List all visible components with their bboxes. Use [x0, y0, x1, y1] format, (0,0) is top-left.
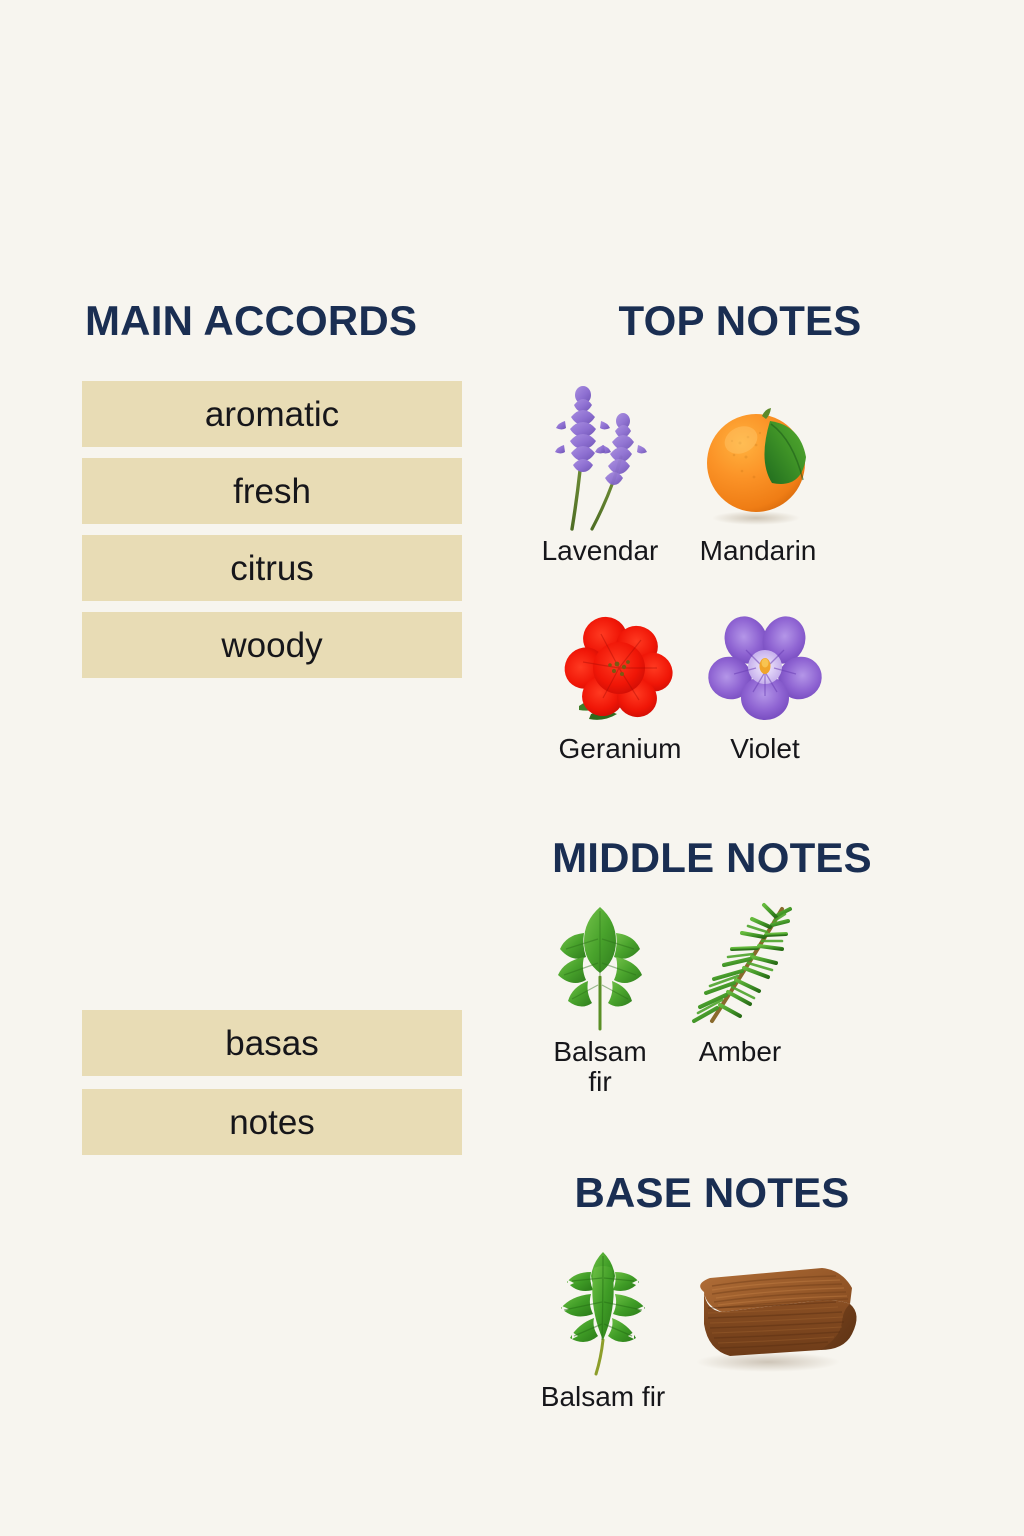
note-label: Mandarin: [700, 536, 817, 566]
accord-label: basas: [225, 1026, 318, 1061]
main-accords-heading: MAIN ACCORDS: [85, 300, 417, 342]
note-label: Amber: [699, 1037, 781, 1067]
base-notes-heading: BASE NOTES: [574, 1172, 849, 1214]
lavender-sprig-icon: [545, 385, 655, 530]
accord-label: citrus: [230, 551, 314, 586]
fragrance-notes-infographic: MAIN ACCORDS aromatic fresh citrus woody…: [0, 0, 1024, 1536]
accord-bar-fresh: fresh: [82, 458, 462, 524]
note-label: Violet: [730, 734, 800, 764]
accord-label: fresh: [233, 474, 311, 509]
purple-violet-flower-icon: [708, 610, 822, 728]
accord-bar-woody: woody: [82, 612, 462, 678]
accord-label: aromatic: [205, 397, 339, 432]
accord-bar-basas: basas: [82, 1010, 462, 1076]
accord-label: notes: [229, 1105, 315, 1140]
note-item-geranium: Geranium: [546, 610, 694, 764]
red-geranium-flower-icon: [561, 610, 679, 728]
note-item-violet: Violet: [700, 610, 830, 764]
note-item-lavendar: Lavendar: [528, 385, 672, 566]
top-notes-heading: TOP NOTES: [619, 300, 862, 342]
note-label: Geranium: [559, 734, 682, 764]
note-item-wood: [684, 1262, 864, 1380]
note-item-balsam-fir-middle: Balsam fir: [538, 903, 662, 1097]
accord-label: woody: [221, 628, 322, 663]
note-label: Balsam fir: [553, 1037, 646, 1097]
note-item-amber: Amber: [680, 903, 800, 1067]
note-label: Balsam fir: [541, 1382, 665, 1412]
green-leaf-icon: [548, 903, 652, 1031]
note-label: Lavendar: [542, 536, 659, 566]
accord-bar-aromatic: aromatic: [82, 381, 462, 447]
fir-branch-icon: [686, 903, 794, 1031]
mandarin-orange-icon: [696, 385, 821, 530]
note-item-balsam-fir-base: Balsam fir: [528, 1248, 678, 1412]
accord-bar-notes: notes: [82, 1089, 462, 1155]
accord-bar-citrus: citrus: [82, 535, 462, 601]
serrated-leaf-icon: [550, 1248, 656, 1376]
middle-notes-heading: MIDDLE NOTES: [552, 837, 872, 879]
note-item-mandarin: Mandarin: [686, 385, 830, 566]
wood-log-icon: [686, 1262, 862, 1374]
